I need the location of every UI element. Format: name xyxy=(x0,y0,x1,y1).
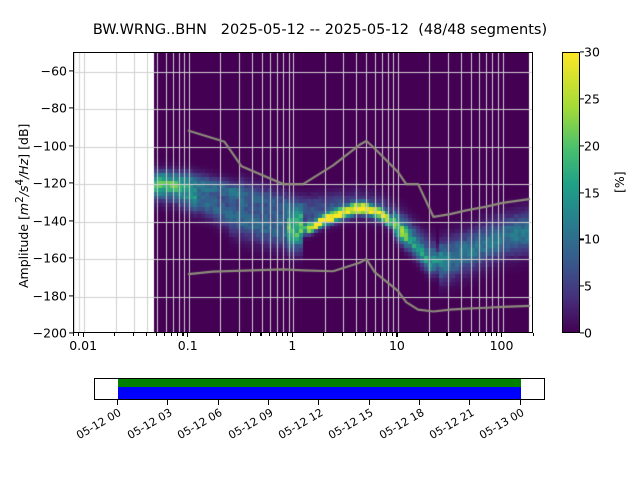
colorbar-tick-mark xyxy=(580,145,584,146)
x-minor-tick-mark xyxy=(496,333,497,336)
x-minor-tick-mark xyxy=(276,333,277,336)
x-minor-tick-mark xyxy=(392,333,393,336)
x-minor-tick-mark xyxy=(342,333,343,336)
colorbar-tick-label: 25 xyxy=(584,91,600,106)
x-minor-tick-mark xyxy=(287,333,288,336)
coverage-tick-label: 05-12 03 xyxy=(121,406,174,444)
y-tick-mark xyxy=(69,183,73,184)
coverage-tick-mark xyxy=(268,400,269,405)
x-tick-label: 0.1 xyxy=(178,338,198,353)
x-minor-tick-mark xyxy=(380,333,381,336)
x-minor-tick-mark xyxy=(114,333,115,336)
colorbar-tick-label: 15 xyxy=(584,185,600,200)
ppsd-clip xyxy=(74,53,532,332)
x-minor-tick-mark xyxy=(478,333,479,336)
x-minor-tick-mark xyxy=(250,333,251,336)
x-minor-tick-mark xyxy=(73,333,74,336)
x-minor-tick-mark xyxy=(446,333,447,336)
x-tick-label: 100 xyxy=(490,338,514,353)
noise-model-curves xyxy=(74,53,532,332)
x-tick-label: 1 xyxy=(288,338,296,353)
y-axis-label: Amplitude [m2/s4/Hz] [dB] xyxy=(14,123,31,287)
x-minor-tick-mark xyxy=(182,333,183,336)
coverage-tick-mark xyxy=(318,400,319,405)
colorbar-tick-label: 0 xyxy=(584,326,592,341)
x-minor-tick-mark xyxy=(365,333,366,336)
colorbar-tick-mark xyxy=(580,192,584,193)
x-minor-tick-mark xyxy=(485,333,486,336)
x-minor-tick-mark xyxy=(171,333,172,336)
x-minor-tick-mark xyxy=(133,333,134,336)
x-minor-tick-mark xyxy=(282,333,283,336)
colorbar-tick-mark xyxy=(580,98,584,99)
y-tick-mark xyxy=(69,145,73,146)
colorbar-tick-mark xyxy=(580,51,584,52)
x-minor-tick-mark xyxy=(470,333,471,336)
y-tick-label: −200 xyxy=(33,326,67,341)
coverage-band-green xyxy=(118,379,521,387)
y-tick-mark xyxy=(69,108,73,109)
colorbar-tick-mark xyxy=(580,286,584,287)
y-tick-label: −100 xyxy=(33,138,67,153)
coverage-tick-label: 05-12 12 xyxy=(272,406,325,444)
coverage-tick-mark xyxy=(167,400,168,405)
x-minor-tick-mark xyxy=(237,333,238,336)
x-tick-label: 0.01 xyxy=(69,338,97,353)
coverage-tick-mark xyxy=(469,400,470,405)
x-minor-tick-mark xyxy=(323,333,324,336)
ppsd-plot-area xyxy=(73,52,533,333)
y-tick-label: −180 xyxy=(33,288,67,303)
x-minor-tick-mark xyxy=(386,333,387,336)
x-minor-tick-mark xyxy=(491,333,492,336)
y-tick-label: −80 xyxy=(41,101,67,116)
coverage-tick-mark xyxy=(218,400,219,405)
y-tick-label: −160 xyxy=(33,251,67,266)
colorbar-tick-mark xyxy=(580,239,584,240)
page-title: BW.WRNG..BHN 2025-05-12 -- 2025-05-12 (4… xyxy=(0,22,640,38)
coverage-tick-label: 05-12 21 xyxy=(423,406,476,444)
coverage-band-blue xyxy=(118,387,521,399)
coverage-tick-mark xyxy=(117,400,118,405)
coverage-tick-mark xyxy=(419,400,420,405)
x-tick-mark xyxy=(292,333,293,337)
x-tick-label: 10 xyxy=(389,338,405,353)
x-minor-tick-mark xyxy=(260,333,261,336)
x-tick-mark xyxy=(187,333,188,337)
coverage-tick-label: 05-12 09 xyxy=(222,406,275,444)
coverage-tick-label: 05-12 15 xyxy=(322,406,375,444)
colorbar-tick-label: 10 xyxy=(584,232,600,247)
x-tick-mark xyxy=(83,333,84,337)
x-minor-tick-mark xyxy=(269,333,270,336)
colorbar-label: [%] xyxy=(612,171,627,193)
colorbar xyxy=(562,52,580,333)
y-tick-label: −140 xyxy=(33,213,67,228)
x-minor-tick-mark xyxy=(533,333,534,336)
x-minor-tick-mark xyxy=(177,333,178,336)
coverage-tick-mark xyxy=(369,400,370,405)
y-tick-label: −60 xyxy=(41,63,67,78)
y-tick-mark xyxy=(69,220,73,221)
x-minor-tick-mark xyxy=(78,333,79,336)
y-tick-label: −120 xyxy=(33,176,67,191)
y-tick-mark xyxy=(69,70,73,71)
x-tick-mark xyxy=(396,333,397,337)
coverage-tick-label: 05-12 06 xyxy=(171,406,224,444)
x-minor-tick-mark xyxy=(146,333,147,336)
x-minor-tick-mark xyxy=(219,333,220,336)
y-tick-mark xyxy=(69,295,73,296)
coverage-tick-label: 05-12 18 xyxy=(373,406,426,444)
coverage-tick-label: 05-13 00 xyxy=(473,406,526,444)
colorbar-tick-mark xyxy=(580,332,584,333)
x-minor-tick-mark xyxy=(459,333,460,336)
y-tick-mark xyxy=(69,257,73,258)
x-minor-tick-mark xyxy=(428,333,429,336)
colorbar-tick-label: 30 xyxy=(584,45,600,60)
coverage-tick-label: 05-12 00 xyxy=(70,406,123,444)
coverage-tick-mark xyxy=(520,400,521,405)
x-minor-tick-mark xyxy=(156,333,157,336)
x-minor-tick-mark xyxy=(164,333,165,336)
colorbar-gradient xyxy=(563,53,579,332)
x-minor-tick-mark xyxy=(355,333,356,336)
colorbar-tick-label: 20 xyxy=(584,138,600,153)
x-tick-mark xyxy=(501,333,502,337)
colorbar-tick-label: 5 xyxy=(584,279,592,294)
x-minor-tick-mark xyxy=(373,333,374,336)
coverage-timeline xyxy=(94,378,545,400)
